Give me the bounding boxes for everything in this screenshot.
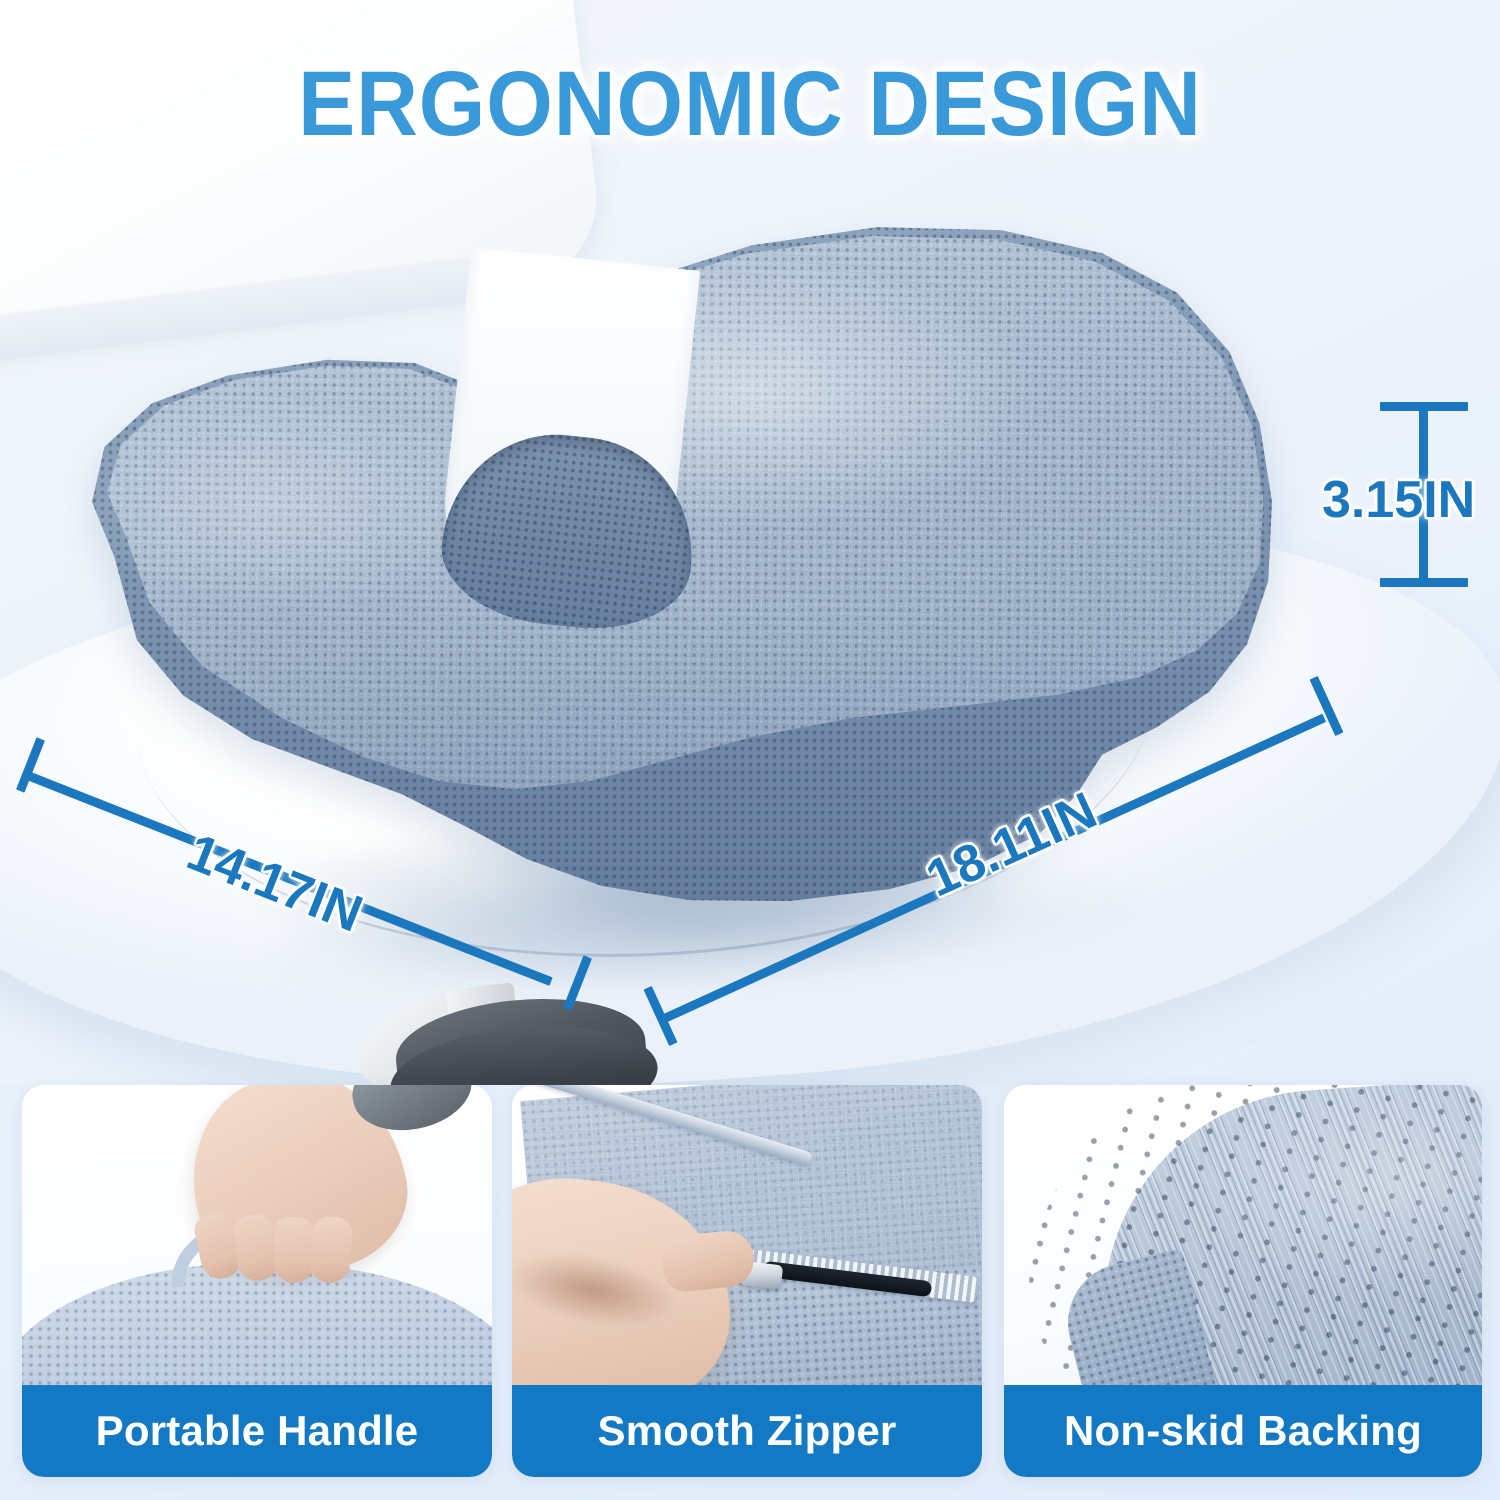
hero-product-image: ERGONOMIC DESIGN 3.15IN 14.17IN 18.11IN (0, 0, 1500, 1085)
feature-caption-smooth-zipper: Smooth Zipper (512, 1385, 982, 1477)
smooth-zipper-photo (512, 1085, 982, 1385)
feature-panel-row: Portable Handle Smooth Zipper (0, 1085, 1500, 1500)
height-bottom-cap (1380, 578, 1468, 587)
feature-card-smooth-zipper[interactable]: Smooth Zipper (512, 1085, 982, 1477)
non-skid-backing-photo (1004, 1085, 1482, 1385)
feature-card-portable-handle[interactable]: Portable Handle (22, 1085, 492, 1477)
height-label: 3.15IN (1322, 470, 1475, 530)
feature-caption-non-skid-backing: Non-skid Backing (1004, 1385, 1482, 1477)
finger-3 (274, 1217, 314, 1283)
portable-handle-photo (22, 1085, 492, 1385)
feature-card-non-skid-backing[interactable]: Non-skid Backing (1004, 1085, 1482, 1477)
feature-caption-portable-handle: Portable Handle (22, 1385, 492, 1477)
page-title: ERGONOMIC DESIGN (53, 52, 1448, 157)
